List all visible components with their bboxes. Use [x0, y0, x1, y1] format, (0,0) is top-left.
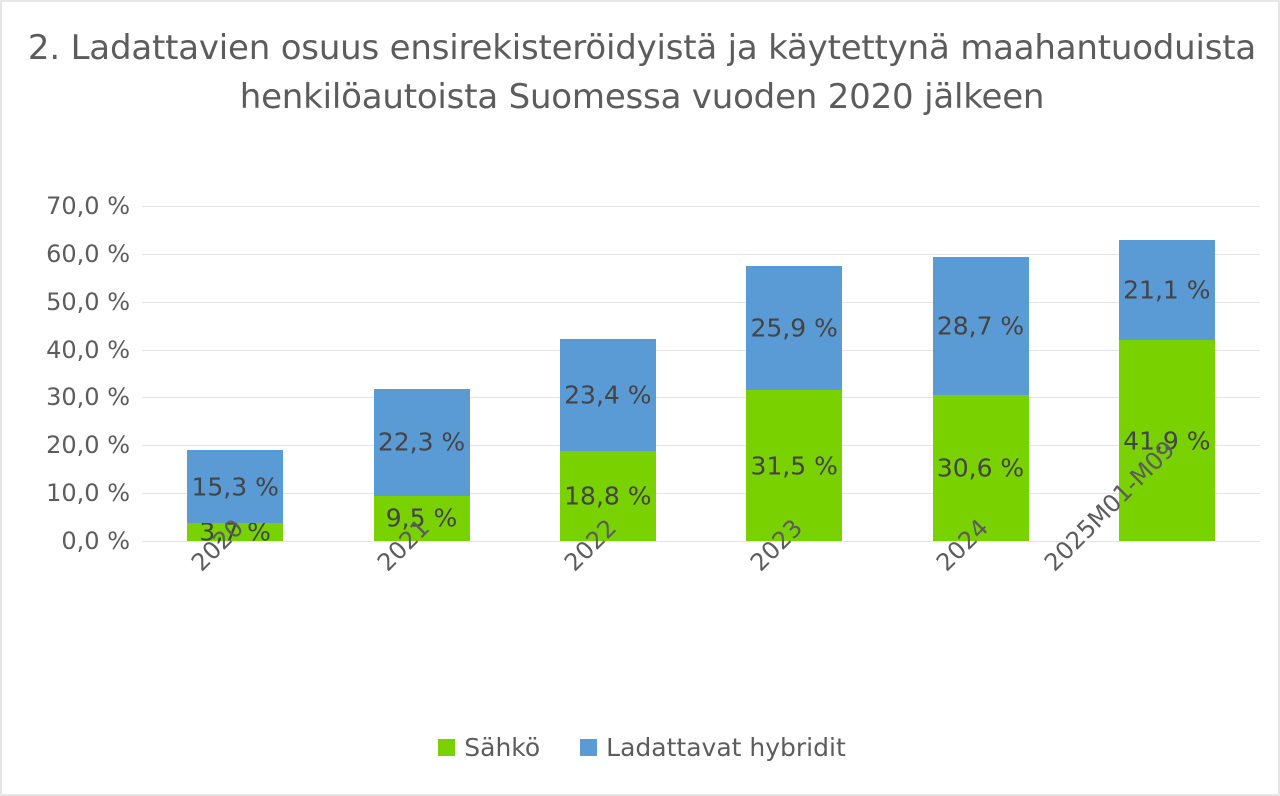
legend-item[interactable]: Sähkö: [438, 733, 540, 762]
legend-label: Ladattavat hybridit: [606, 733, 846, 762]
bar-group[interactable]: 31,5 %25,9 %: [746, 206, 842, 541]
y-tick-label: 70,0 %: [2, 192, 130, 220]
bar-segment-ladattavat-hybridit[interactable]: [1119, 240, 1215, 341]
legend-item[interactable]: Ladattavat hybridit: [580, 733, 846, 762]
gridline: [142, 302, 1260, 303]
y-tick-label: 20,0 %: [2, 431, 130, 459]
bar-group[interactable]: 18,8 %23,4 %: [560, 206, 656, 541]
bar-segment-ladattavat-hybridit[interactable]: [187, 450, 283, 523]
bar-segment-sahko[interactable]: [933, 395, 1029, 541]
chart-title: 2. Ladattavien osuus ensirekisteröidyist…: [2, 24, 1280, 122]
y-tick-label: 60,0 %: [2, 240, 130, 268]
y-tick-label: 10,0 %: [2, 479, 130, 507]
bar-segment-ladattavat-hybridit[interactable]: [933, 257, 1029, 394]
bar-group[interactable]: 30,6 %28,7 %: [933, 206, 1029, 541]
y-tick-label: 40,0 %: [2, 336, 130, 364]
plot-area: 3,7 %15,3 %9,5 %22,3 %18,8 %23,4 %31,5 %…: [142, 206, 1260, 541]
y-tick-label: 0,0 %: [2, 527, 130, 555]
square-marker-icon: [438, 739, 455, 756]
chart-container: 2. Ladattavien osuus ensirekisteröidyist…: [0, 0, 1280, 796]
gridline: [142, 254, 1260, 255]
bar-segment-sahko[interactable]: [746, 390, 842, 541]
x-axis: 202020212022202320242025M01-M09: [142, 541, 1260, 721]
bar-segment-ladattavat-hybridit[interactable]: [374, 389, 470, 496]
chart-legend: SähköLadattavat hybridit: [2, 733, 1280, 762]
bar-group[interactable]: 9,5 %22,3 %: [374, 206, 470, 541]
y-tick-label: 50,0 %: [2, 288, 130, 316]
gridline: [142, 493, 1260, 494]
bar-segment-ladattavat-hybridit[interactable]: [746, 266, 842, 390]
gridline: [142, 397, 1260, 398]
y-axis: 0,0 %10,0 %20,0 %30,0 %40,0 %50,0 %60,0 …: [2, 206, 130, 541]
square-marker-icon: [580, 739, 597, 756]
legend-label: Sähkö: [464, 733, 540, 762]
gridline: [142, 445, 1260, 446]
gridline: [142, 350, 1260, 351]
bar-segment-ladattavat-hybridit[interactable]: [560, 339, 656, 451]
gridline: [142, 206, 1260, 207]
bar-group[interactable]: 3,7 %15,3 %: [187, 206, 283, 541]
y-tick-label: 30,0 %: [2, 383, 130, 411]
